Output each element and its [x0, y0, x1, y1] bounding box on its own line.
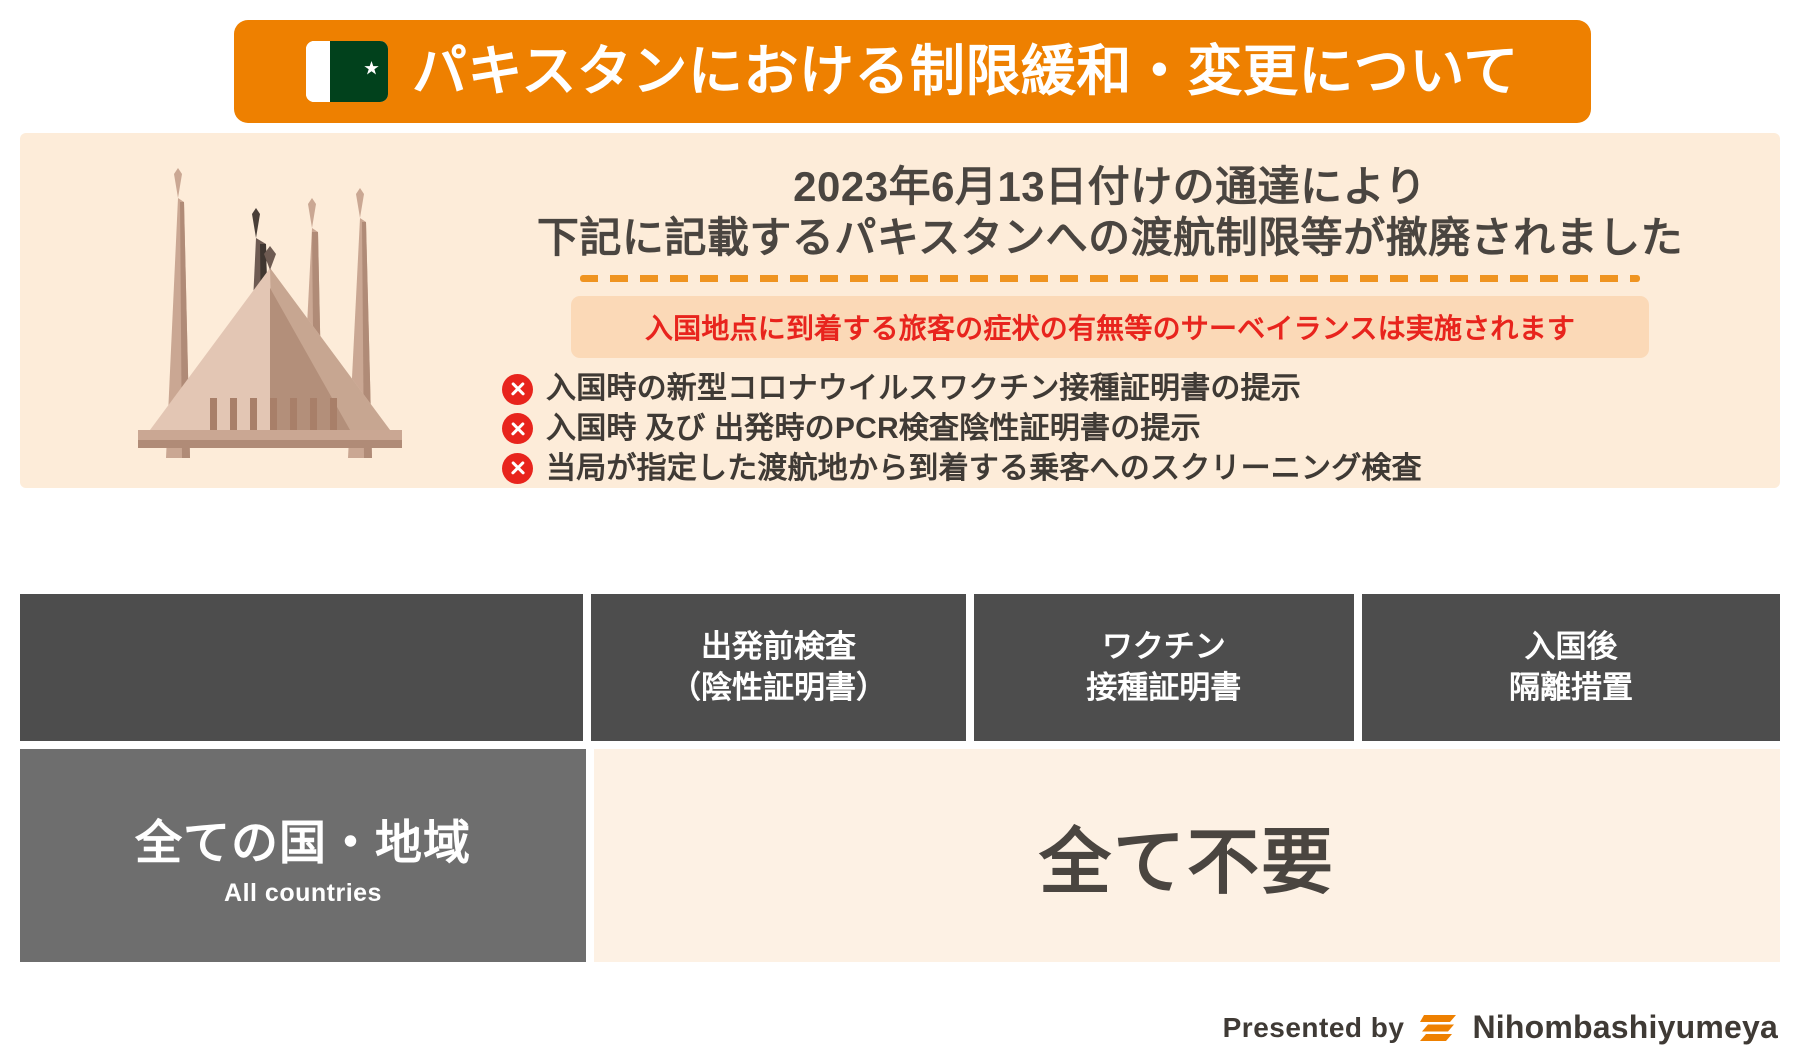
- table-header-quarantine: 入国後 隔離措置: [1362, 594, 1780, 741]
- presented-by-label: Presented by: [1223, 1012, 1405, 1044]
- table-header-line-2: 隔離措置: [1509, 668, 1633, 708]
- table-header-line-2: （陰性証明書）: [670, 668, 887, 708]
- table-header-vaccine-certificate: ワクチン 接種証明書: [974, 594, 1354, 741]
- table-header-line-1: 入国後: [1509, 627, 1633, 667]
- cross-circle-icon: [502, 413, 533, 444]
- faisal-mosque-illustration: [60, 158, 480, 478]
- footer-branding: Presented by Nihombashiyumeya: [1223, 1009, 1778, 1046]
- table-row-value: 全て不要: [594, 749, 1780, 962]
- header-banner: パキスタンにおける制限緩和・変更について: [234, 20, 1591, 123]
- table-row-label-jp: 全ての国・地域: [135, 804, 471, 873]
- headline-line-1: 2023年6月13日付けの通達により: [450, 161, 1770, 212]
- list-item: 入国時 及び 出発時のPCR検査陰性証明書の提示: [502, 412, 1770, 446]
- table-row-label: 全ての国・地域 All countries: [20, 749, 586, 962]
- table-header-line-1: 出発前検査: [670, 627, 887, 667]
- table-row: 全ての国・地域 All countries 全て不要: [20, 749, 1780, 962]
- surveillance-notice: 入国地点に到着する旅客の症状の有無等のサーベイランスは実施されます: [571, 296, 1649, 358]
- cross-circle-icon: [502, 453, 533, 484]
- table-header-line-2: 接種証明書: [1086, 668, 1241, 708]
- infographic-page: パキスタンにおける制限緩和・変更について: [0, 0, 1800, 1060]
- yumeya-logo-icon: [1420, 1011, 1460, 1045]
- table-header-line-1: ワクチン: [1086, 627, 1241, 667]
- crescent-star-icon: [336, 50, 382, 94]
- info-content: 2023年6月13日付けの通達により 下記に記載するパキスタンへの渡航制限等が撤…: [450, 133, 1770, 488]
- surveillance-notice-text: 入国地点に到着する旅客の症状の有無等のサーベイランスは実施されます: [645, 307, 1575, 347]
- flag-green-field: [330, 41, 388, 102]
- table-header-row: 出発前検査 （陰性証明書） ワクチン 接種証明書 入国後 隔離措置: [20, 594, 1780, 741]
- list-item-label: 入国時 及び 出発時のPCR検査陰性証明書の提示: [546, 412, 1201, 446]
- pakistan-flag-icon: [306, 41, 388, 102]
- flag-white-band: [306, 41, 330, 102]
- removed-requirements-list: 入国時の新型コロナウイルスワクチン接種証明書の提示 入国時 及び 出発時のPCR…: [502, 372, 1770, 485]
- list-item-label: 入国時の新型コロナウイルスワクチン接種証明書の提示: [546, 372, 1301, 406]
- info-panel: 2023年6月13日付けの通達により 下記に記載するパキスタンへの渡航制限等が撤…: [20, 133, 1780, 488]
- headline: 2023年6月13日付けの通達により 下記に記載するパキスタンへの渡航制限等が撤…: [450, 133, 1770, 263]
- table-header-predeparture-test: 出発前検査 （陰性証明書）: [591, 594, 965, 741]
- list-item: 入国時の新型コロナウイルスワクチン接種証明書の提示: [502, 372, 1770, 406]
- headline-line-2: 下記に記載するパキスタンへの渡航制限等が撤廃されました: [450, 212, 1770, 263]
- list-item: 当局が指定した渡航地から到着する乗客へのスクリーニング検査: [502, 452, 1770, 486]
- cross-circle-icon: [502, 374, 533, 405]
- dashed-divider: [580, 275, 1640, 282]
- page-title: パキスタンにおける制限緩和・変更について: [412, 44, 1519, 99]
- brand-name: Nihombashiyumeya: [1472, 1009, 1778, 1046]
- table-header-blank: [20, 594, 583, 741]
- requirements-table: 出発前検査 （陰性証明書） ワクチン 接種証明書 入国後 隔離措置 全ての国・地…: [20, 594, 1780, 962]
- list-item-label: 当局が指定した渡航地から到着する乗客へのスクリーニング検査: [546, 452, 1422, 486]
- table-row-label-en: All countries: [224, 879, 382, 908]
